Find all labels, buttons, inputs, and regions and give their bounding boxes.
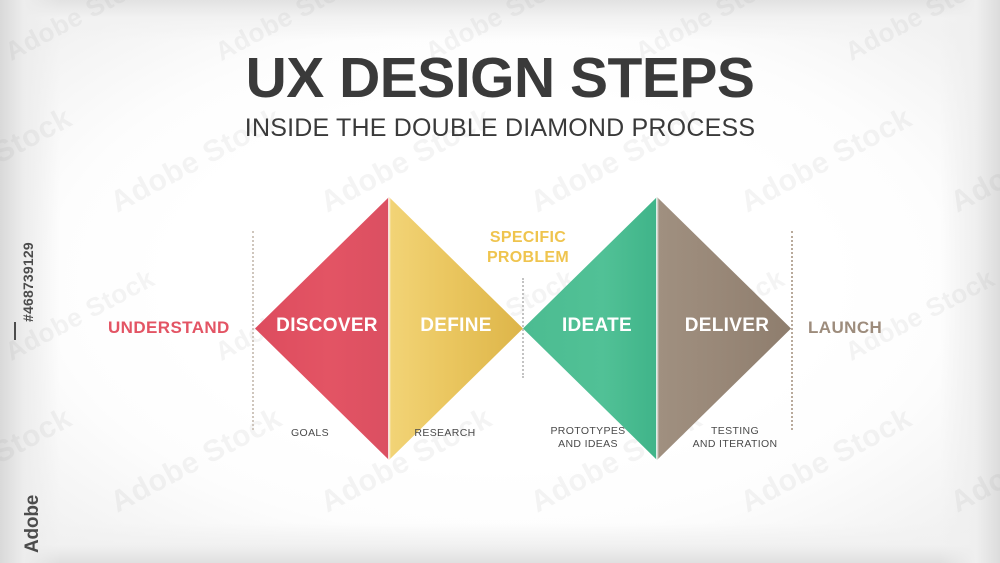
step-label-ideate: IDEATE: [542, 316, 652, 335]
guide-line-launch: [791, 231, 793, 430]
ux-design-steps-infographic: Adobe StockAdobe StockAdobe StockAdobe S…: [0, 0, 1000, 563]
caption-ideate: PROTOTYPES AND IDEAS: [531, 425, 645, 451]
label-specific-problem: SPECIFIC PROBLEM: [463, 228, 593, 269]
stock-id-bar: [14, 322, 16, 340]
label-launch: LAUNCH: [808, 319, 882, 336]
label-understand: UNDERSTAND: [108, 319, 230, 336]
page-subtitle: INSIDE THE DOUBLE DIAMOND PROCESS: [0, 116, 1000, 141]
caption-deliver: TESTING AND ITERATION: [672, 425, 798, 451]
background-edge-bottom: [0, 523, 1000, 563]
stock-brand-text: Adobe: [22, 495, 44, 553]
step-label-discover: DISCOVER: [268, 316, 386, 335]
stock-id-text: #468739129: [20, 242, 36, 322]
background-edge-top: [0, 0, 1000, 40]
guide-line-understand: [252, 231, 254, 430]
step-label-define: DEFINE: [400, 316, 512, 335]
watermark-text: Adobe Stock: [945, 401, 1000, 520]
caption-define: RESEARCH: [393, 427, 497, 440]
watermark-text: Adobe Stock: [840, 263, 1000, 368]
page-title: UX DESIGN STEPS: [0, 50, 1000, 107]
caption-discover: GOALS: [262, 427, 358, 440]
step-label-deliver: DELIVER: [670, 316, 784, 335]
